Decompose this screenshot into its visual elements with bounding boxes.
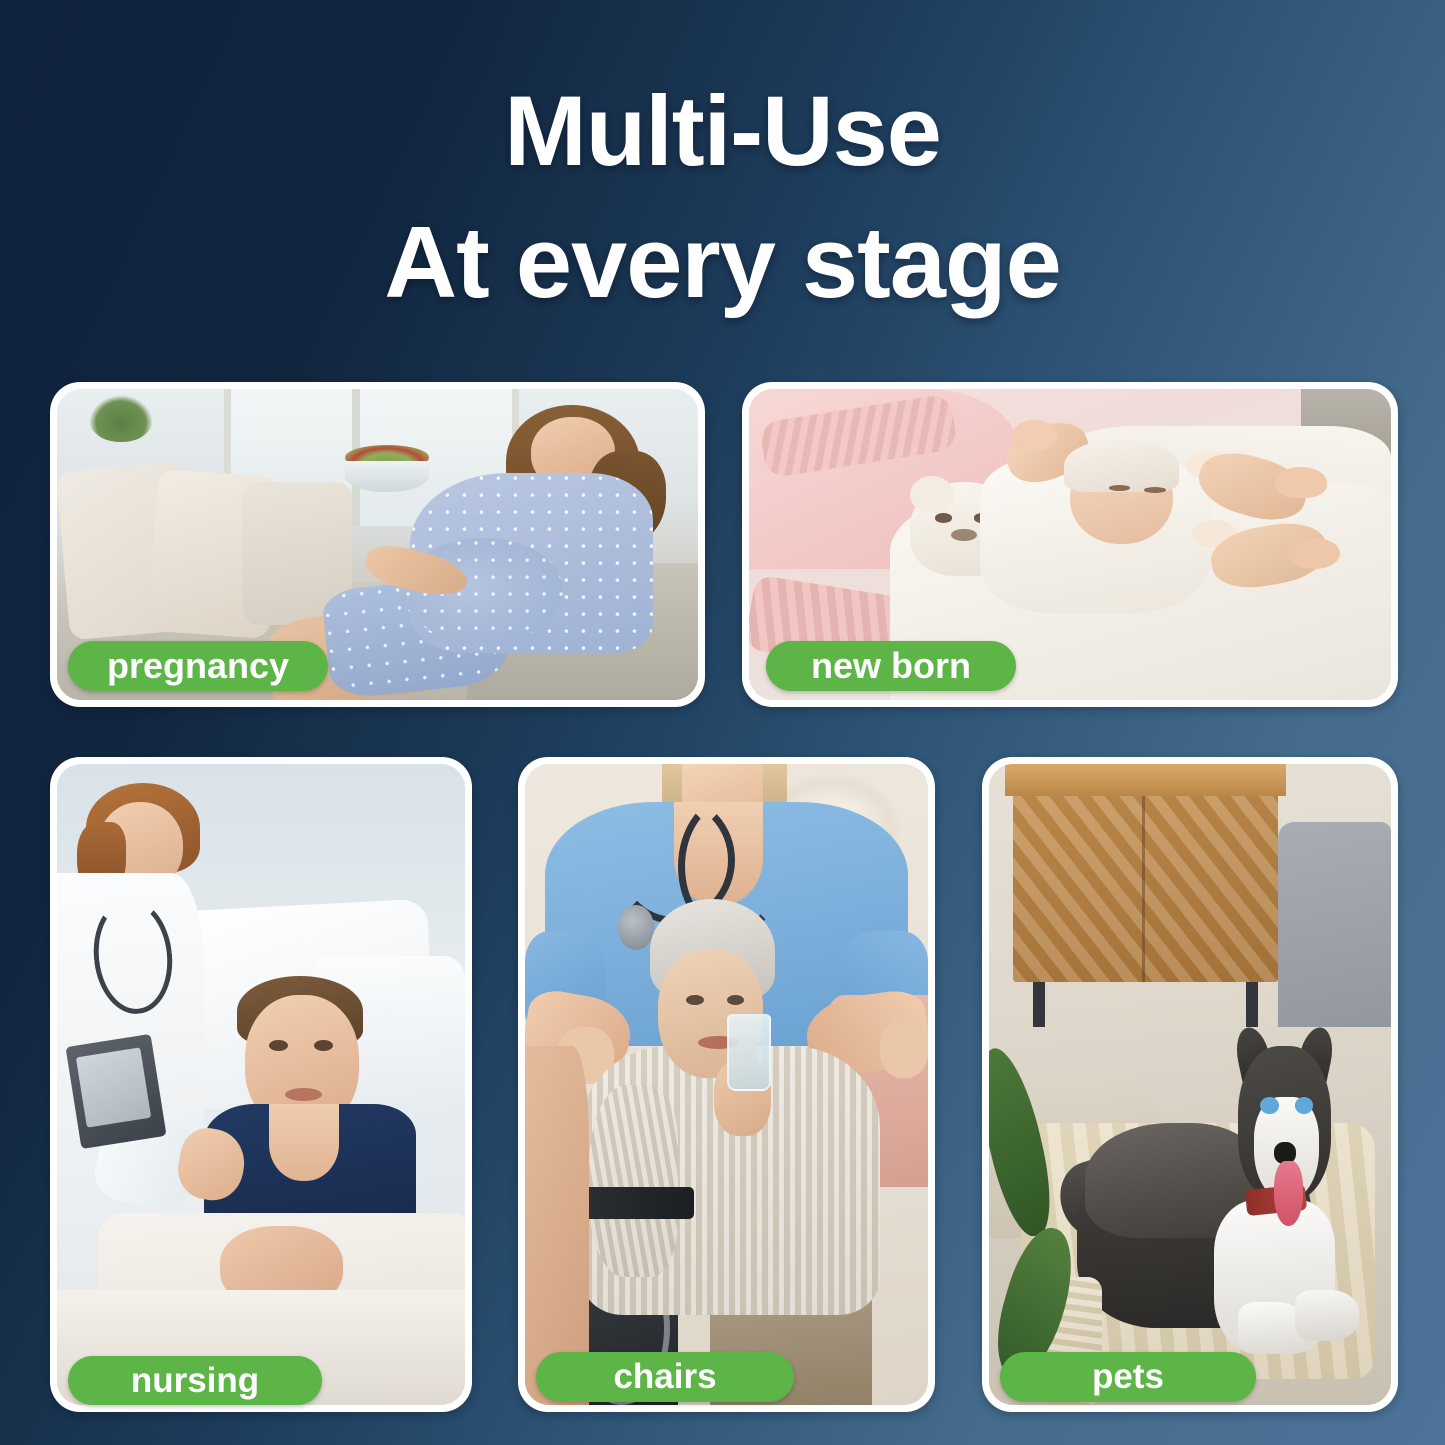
photo-nursing	[57, 764, 465, 1405]
badge-pets[interactable]: pets	[1000, 1352, 1256, 1402]
water-glass	[727, 1014, 771, 1091]
photo-pets	[989, 764, 1391, 1405]
card-chairs[interactable]	[518, 757, 935, 1412]
badge-nursing[interactable]: nursing	[68, 1356, 322, 1405]
card-nursing[interactable]	[50, 757, 472, 1412]
title-line-1: Multi-Use	[0, 66, 1445, 197]
card-pets[interactable]	[982, 757, 1398, 1412]
badge-pregnancy[interactable]: pregnancy	[68, 641, 328, 691]
badge-chairs[interactable]: chairs	[536, 1352, 794, 1402]
title-line-2: At every stage	[0, 197, 1445, 330]
wooden-cabinet	[1013, 764, 1278, 982]
plant-decor	[89, 395, 153, 442]
badge-newborn[interactable]: new born	[766, 641, 1016, 691]
page-title: Multi-Use At every stage	[0, 66, 1445, 330]
photo-chairs	[525, 764, 928, 1405]
